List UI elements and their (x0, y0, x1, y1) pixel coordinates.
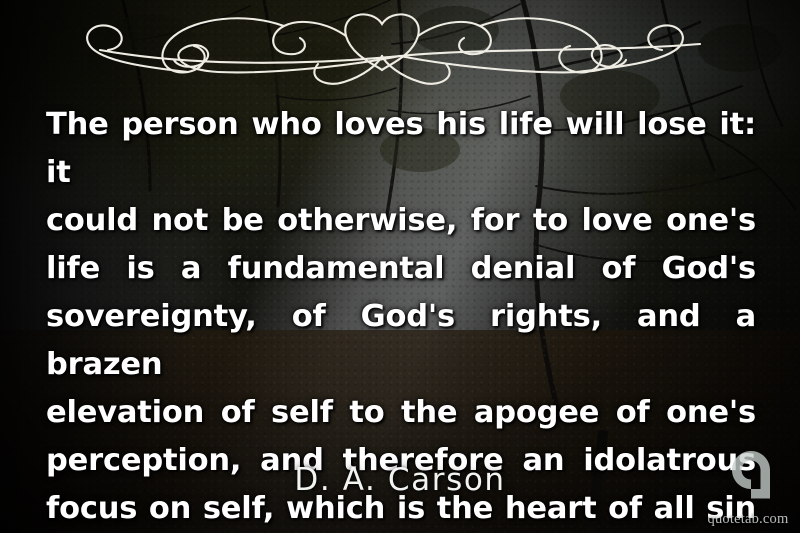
quote-author: D. A. Carson (0, 462, 800, 498)
quote-image-card: The person who loves his life will lose … (0, 0, 800, 533)
quote-line: could not be otherwise, for to love one'… (46, 197, 756, 245)
quote-line: sovereignty, of God's rights, and a braz… (46, 293, 756, 389)
scroll-flourish-divider-icon (78, 6, 722, 88)
card-content: The person who loves his life will lose … (0, 0, 800, 533)
quote-line: life is a fundamental denial of God's (46, 245, 756, 293)
quotetab-q-logo-icon (720, 445, 782, 507)
watermark[interactable]: quotetab.com (702, 443, 794, 531)
quote-line: elevation of self to the apogee of one's (46, 389, 756, 437)
quote-line: The person who loves his life will lose … (46, 101, 756, 197)
watermark-site-label: quotetab.com (702, 511, 794, 528)
